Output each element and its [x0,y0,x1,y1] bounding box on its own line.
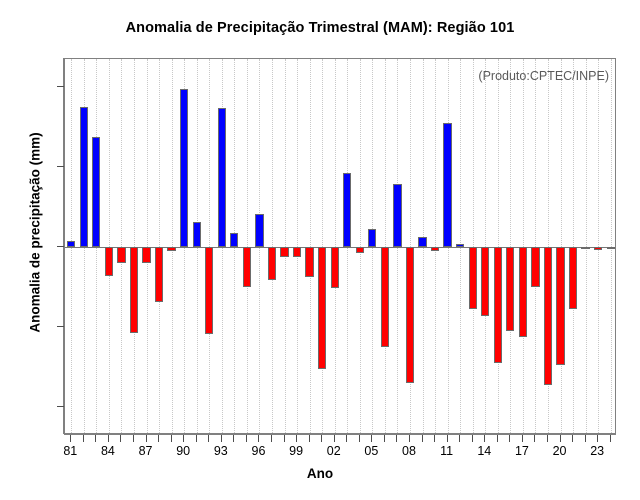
gridline [523,59,525,433]
bar-08 [406,247,414,383]
bar-06 [381,247,389,347]
bar-87 [142,247,150,263]
x-tick-mark [271,435,272,442]
bar-94 [230,233,238,247]
x-tick-mark [484,435,485,442]
gridline [561,59,563,433]
x-tick-mark [70,435,71,442]
bar-81 [67,241,75,247]
bar-21 [569,247,577,309]
x-tick-mark [384,435,385,442]
bar-18 [531,247,539,287]
x-tick-label: 20 [542,444,578,458]
y-tick-mark [57,166,64,167]
gridline [573,59,575,433]
gridline [297,59,299,433]
x-tick-label: 96 [240,444,276,458]
gridline [335,59,337,433]
x-tick-mark [183,435,184,442]
x-tick-mark [459,435,460,442]
x-tick-mark [108,435,109,442]
bar-90 [180,89,188,247]
bar-00 [305,247,313,277]
x-tick-mark [534,435,535,442]
x-tick-mark [409,435,410,442]
x-tick-mark [171,435,172,442]
bar-11 [443,123,451,247]
x-tick-label: 99 [278,444,314,458]
bar-16 [506,247,514,331]
bar-07 [393,184,401,247]
bar-82 [80,107,88,247]
gridline [285,59,287,433]
bar-85 [117,247,125,263]
bar-04 [356,247,364,253]
gridline [435,59,437,433]
x-tick-mark [547,435,548,442]
bar-84 [105,247,113,276]
gridline [498,59,500,433]
x-tick-mark [560,435,561,442]
x-tick-label: 23 [579,444,615,458]
x-tick-label: 17 [504,444,540,458]
x-axis-title: Ano [0,466,640,481]
bar-98 [280,247,288,257]
x-tick-mark [422,435,423,442]
x-tick-mark [196,435,197,442]
x-tick-mark [497,435,498,442]
bar-86 [130,247,138,333]
x-tick-mark [233,435,234,442]
bar-05 [368,229,376,247]
gridline [598,59,600,433]
bar-24 [607,247,615,249]
x-tick-mark [221,435,222,442]
x-tick-mark [509,435,510,442]
bar-22 [581,247,589,249]
gridline [473,59,475,433]
x-tick-mark [246,435,247,442]
x-tick-label: 02 [316,444,352,458]
x-tick-mark [396,435,397,442]
bar-10 [431,247,439,251]
plot-area: (Produto:CPTEC/INPE) [64,58,616,434]
bar-97 [268,247,276,280]
bar-23 [594,247,602,250]
x-tick-mark [572,435,573,442]
x-axis-line [64,434,616,435]
gridline [172,59,174,433]
x-tick-label: 90 [165,444,201,458]
gridline [209,59,211,433]
gridline [147,59,149,433]
bar-19 [544,247,552,385]
x-tick-label: 87 [128,444,164,458]
gridline [272,59,274,433]
gridline [109,59,111,433]
gridline [586,59,588,433]
bar-14 [481,247,489,316]
chart-title: Anomalia de Precipitação Trimestral (MAM… [0,20,640,36]
x-tick-label: 08 [391,444,427,458]
x-tick-mark [284,435,285,442]
source-annotation: (Produto:CPTEC/INPE) [478,69,609,83]
bar-13 [469,247,477,309]
y-tick-mark [57,326,64,327]
x-tick-mark [158,435,159,442]
x-tick-mark [334,435,335,442]
x-tick-mark [296,435,297,442]
x-tick-mark [472,435,473,442]
x-tick-mark [346,435,347,442]
x-tick-mark [434,435,435,442]
bar-09 [418,237,426,247]
gridline [360,59,362,433]
x-tick-mark [133,435,134,442]
x-tick-label: 14 [466,444,502,458]
x-tick-mark [522,435,523,442]
gridline [385,59,387,433]
gridline [310,59,312,433]
x-tick-label: 81 [52,444,88,458]
y-tick-mark [57,406,64,407]
x-tick-mark [371,435,372,442]
bar-20 [556,247,564,365]
y-axis-title: Anomalia de precipitação (mm) [28,103,43,363]
x-tick-mark [585,435,586,442]
gridline [159,59,161,433]
bar-02 [331,247,339,288]
x-tick-mark [359,435,360,442]
x-tick-mark [309,435,310,442]
x-tick-mark [610,435,611,442]
x-tick-mark [447,435,448,442]
bar-15 [494,247,502,363]
bar-12 [456,244,464,247]
gridline [535,59,537,433]
x-tick-mark [146,435,147,442]
gridline [121,59,123,433]
bar-88 [155,247,163,302]
y-tick-mark [57,246,64,247]
gridline [485,59,487,433]
x-tick-label: 84 [90,444,126,458]
gridline [134,59,136,433]
bar-01 [318,247,326,369]
x-tick-label: 05 [353,444,389,458]
gridline [611,59,613,433]
x-tick-mark [83,435,84,442]
bar-96 [255,214,263,247]
gridline [247,59,249,433]
x-tick-mark [321,435,322,442]
bar-83 [92,137,100,247]
bar-99 [293,247,301,257]
gridline [510,59,512,433]
bar-89 [167,247,175,251]
x-tick-mark [258,435,259,442]
x-tick-mark [120,435,121,442]
bar-03 [343,173,351,247]
x-tick-mark [208,435,209,442]
x-tick-label: 11 [429,444,465,458]
y-tick-mark [57,86,64,87]
x-tick-mark [597,435,598,442]
bar-93 [218,108,226,247]
bar-17 [519,247,527,337]
x-tick-mark [95,435,96,442]
chart-root: Anomalia de Precipitação Trimestral (MAM… [0,0,640,500]
bar-91 [193,222,201,247]
bar-92 [205,247,213,334]
bar-95 [243,247,251,287]
x-tick-label: 93 [203,444,239,458]
gridline [322,59,324,433]
